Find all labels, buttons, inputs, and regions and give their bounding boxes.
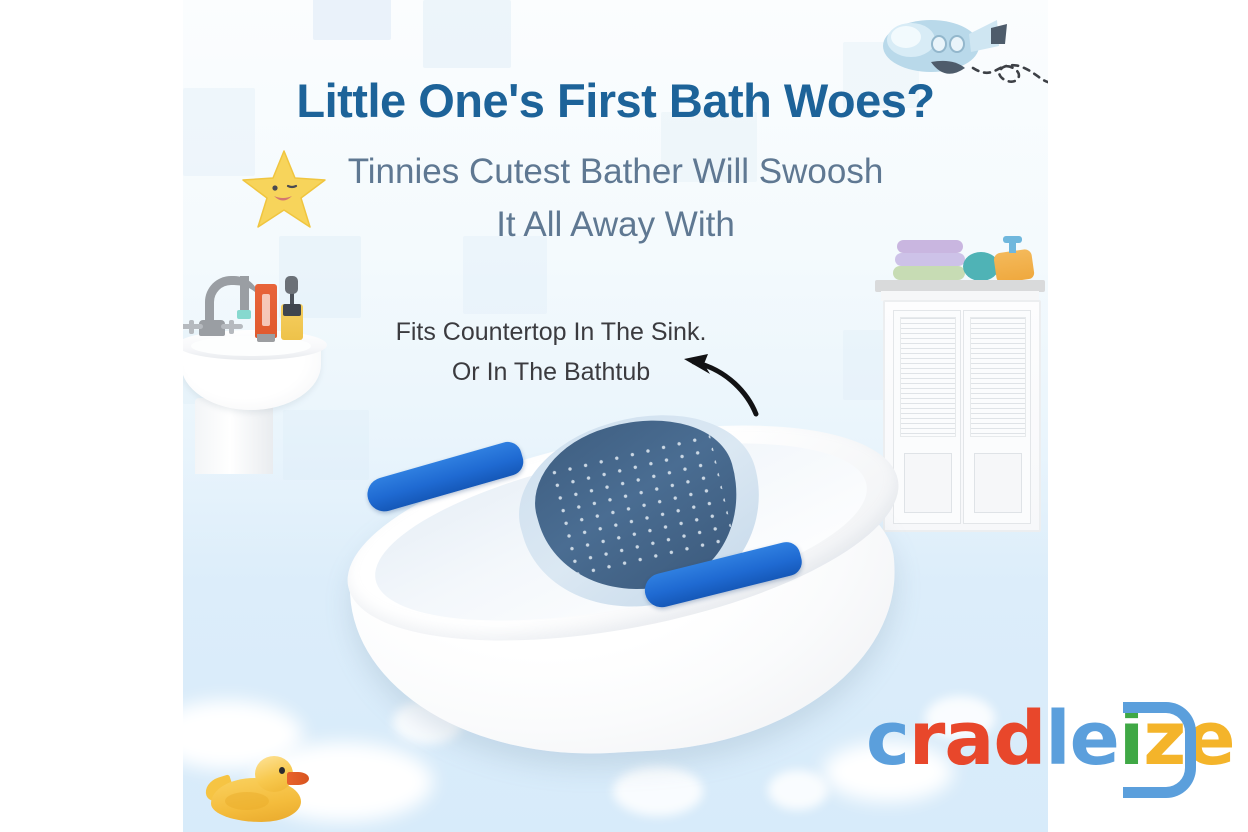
tube-label xyxy=(262,294,270,326)
duck-beak xyxy=(287,772,309,785)
logo-letter-1: r xyxy=(909,696,945,782)
background-tile xyxy=(423,0,511,68)
subtitle-line-1: Tinnies Cutest Bather Will Swoosh xyxy=(183,146,1048,199)
baby-bathtub-product xyxy=(343,398,903,798)
logo-letter-5: e xyxy=(1070,696,1119,782)
page-title: Little One's First Bath Woes? xyxy=(183,76,1048,126)
brand-logo[interactable]: cradleize xyxy=(866,696,1196,782)
logo-letter-3: d xyxy=(993,696,1045,782)
page-subtitle: Tinnies Cutest Bather Will Swoosh It All… xyxy=(183,146,1048,251)
cabinet-door-left[interactable] xyxy=(893,310,961,524)
logo-letter-0: c xyxy=(866,696,909,782)
tube-cap xyxy=(257,334,275,342)
louver-slats-left xyxy=(900,317,956,437)
toothbrush-head xyxy=(285,276,298,294)
logo-letter-4: l xyxy=(1045,696,1069,782)
towel-green xyxy=(893,266,965,280)
faucet-aerator xyxy=(237,310,251,319)
caption-line-1: Fits Countertop In The Sink. xyxy=(381,312,721,352)
cabinet-body xyxy=(883,300,1041,532)
duck-eye xyxy=(279,767,285,774)
subtitle-line-2: It All Away With xyxy=(183,199,1048,252)
door-panel-right xyxy=(974,453,1022,513)
cabinet-door-right[interactable] xyxy=(963,310,1031,524)
toothbrush-cup xyxy=(283,304,301,316)
faucet-handle-right xyxy=(221,324,243,329)
logo-bracket-icon xyxy=(1123,702,1196,798)
louver-slats-right xyxy=(970,317,1026,437)
poster-stage: Little One's First Bath Woes? Tinnies Cu… xyxy=(0,0,1248,832)
faucet-handle-left xyxy=(183,324,203,329)
rubber-duck-icon xyxy=(211,748,315,824)
caption-line-2: Or In The Bathtub xyxy=(381,352,721,392)
duck-wing xyxy=(225,792,269,810)
pedestal-sink xyxy=(183,270,331,470)
faucet-spout xyxy=(240,276,249,314)
logo-letter-2: a xyxy=(944,696,993,782)
feature-caption: Fits Countertop In The Sink. Or In The B… xyxy=(381,312,721,392)
door-panel-left xyxy=(904,453,952,513)
towel-lavender xyxy=(895,253,965,266)
pump-bottle xyxy=(993,249,1035,284)
background-tile xyxy=(313,0,391,40)
